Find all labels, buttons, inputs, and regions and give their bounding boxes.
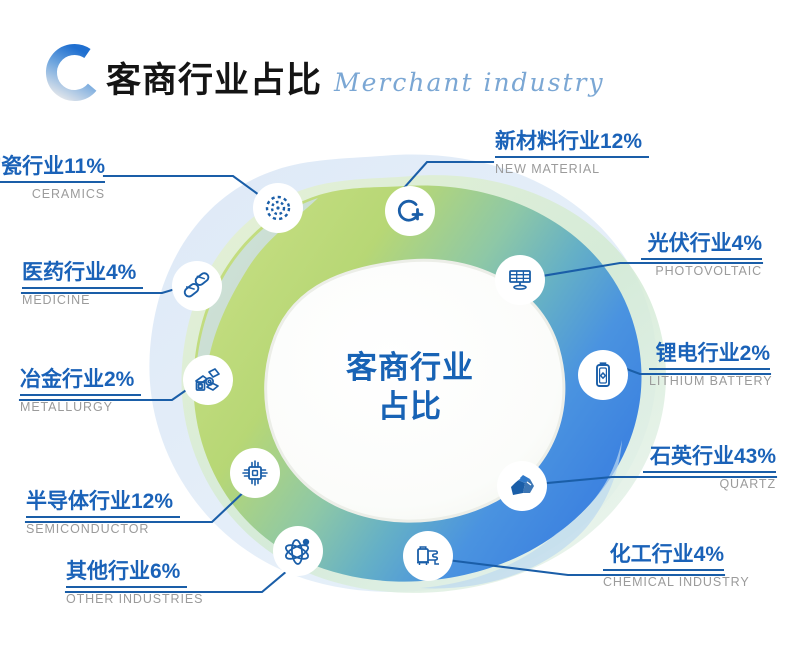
label-quartz-en: QUARTZ	[643, 475, 776, 494]
label-photovoltaic: 光伏行业4% PHOTOVOLTAIC	[641, 232, 762, 280]
label-metallurgy-zh: 冶金行业2%	[20, 368, 141, 396]
label-lithium-battery-en: LITHIUM BATTERY	[649, 372, 770, 391]
icon-bubble-lithium-battery[interactable]	[578, 350, 628, 400]
icon-bubble-photovoltaic[interactable]	[495, 255, 545, 305]
new-material-q-plus-icon	[395, 196, 425, 226]
label-ceramics-zh: 陶瓷行业11%	[0, 155, 105, 183]
solar-panel-icon	[505, 265, 535, 295]
icon-bubble-chemical[interactable]	[403, 531, 453, 581]
icon-bubble-quartz[interactable]	[497, 461, 547, 511]
label-new-material: 新材料行业12% NEW MATERIAL	[495, 130, 649, 178]
label-medicine: 医药行业4% MEDICINE	[22, 261, 143, 309]
label-new-material-en: NEW MATERIAL	[495, 160, 649, 179]
label-quartz: 石英行业43% QUARTZ	[643, 445, 776, 493]
label-photovoltaic-zh: 光伏行业4%	[641, 232, 762, 260]
icon-bubble-new-material[interactable]	[385, 186, 435, 236]
battery-icon	[588, 360, 618, 390]
label-metallurgy: 冶金行业2% METALLURGY	[20, 368, 141, 416]
label-metallurgy-en: METALLURGY	[20, 398, 141, 417]
label-quartz-zh: 石英行业43%	[643, 445, 776, 473]
icon-bubble-metallurgy[interactable]	[183, 355, 233, 405]
infographic-page: 客商行业占比 Merchant industry	[0, 0, 810, 659]
chemical-reactor-icon	[413, 541, 443, 571]
capsule-pills-icon	[181, 270, 213, 302]
label-chemical-en: CHEMICAL INDUSTRY	[603, 573, 724, 592]
label-photovoltaic-en: PHOTOVOLTAIC	[641, 262, 762, 281]
quartz-crystal-icon	[506, 470, 538, 502]
chip-icon	[239, 457, 271, 489]
label-new-material-zh: 新材料行业12%	[495, 130, 649, 158]
label-semiconductor-zh: 半导体行业12%	[26, 490, 180, 518]
metal-ingots-icon	[192, 364, 224, 396]
icon-bubble-semiconductor[interactable]	[230, 448, 280, 498]
label-ceramics: 陶瓷行业11% CERAMICS	[0, 155, 105, 203]
label-medicine-zh: 医药行业4%	[22, 261, 143, 289]
icon-bubble-other-industries[interactable]	[273, 526, 323, 576]
label-ceramics-en: CERAMICS	[0, 185, 105, 204]
ceramics-dotted-circle-icon	[263, 193, 293, 223]
label-lithium-battery: 锂电行业2% LITHIUM BATTERY	[649, 342, 770, 390]
label-other-industries-zh: 其他行业6%	[66, 560, 187, 588]
label-chemical-zh: 化工行业4%	[603, 543, 724, 571]
label-other-industries-en: OTHER INDUSTRIES	[66, 590, 187, 609]
label-lithium-battery-zh: 锂电行业2%	[649, 342, 770, 370]
atom-icon	[282, 535, 314, 567]
icon-bubble-ceramics[interactable]	[253, 183, 303, 233]
label-semiconductor-en: SEMICONDUCTOR	[26, 520, 180, 539]
label-chemical: 化工行业4% CHEMICAL INDUSTRY	[603, 543, 724, 591]
label-other-industries: 其他行业6% OTHER INDUSTRIES	[66, 560, 187, 608]
icon-bubble-medicine[interactable]	[172, 261, 222, 311]
label-semiconductor: 半导体行业12% SEMICONDUCTOR	[26, 490, 180, 538]
label-medicine-en: MEDICINE	[22, 291, 143, 310]
